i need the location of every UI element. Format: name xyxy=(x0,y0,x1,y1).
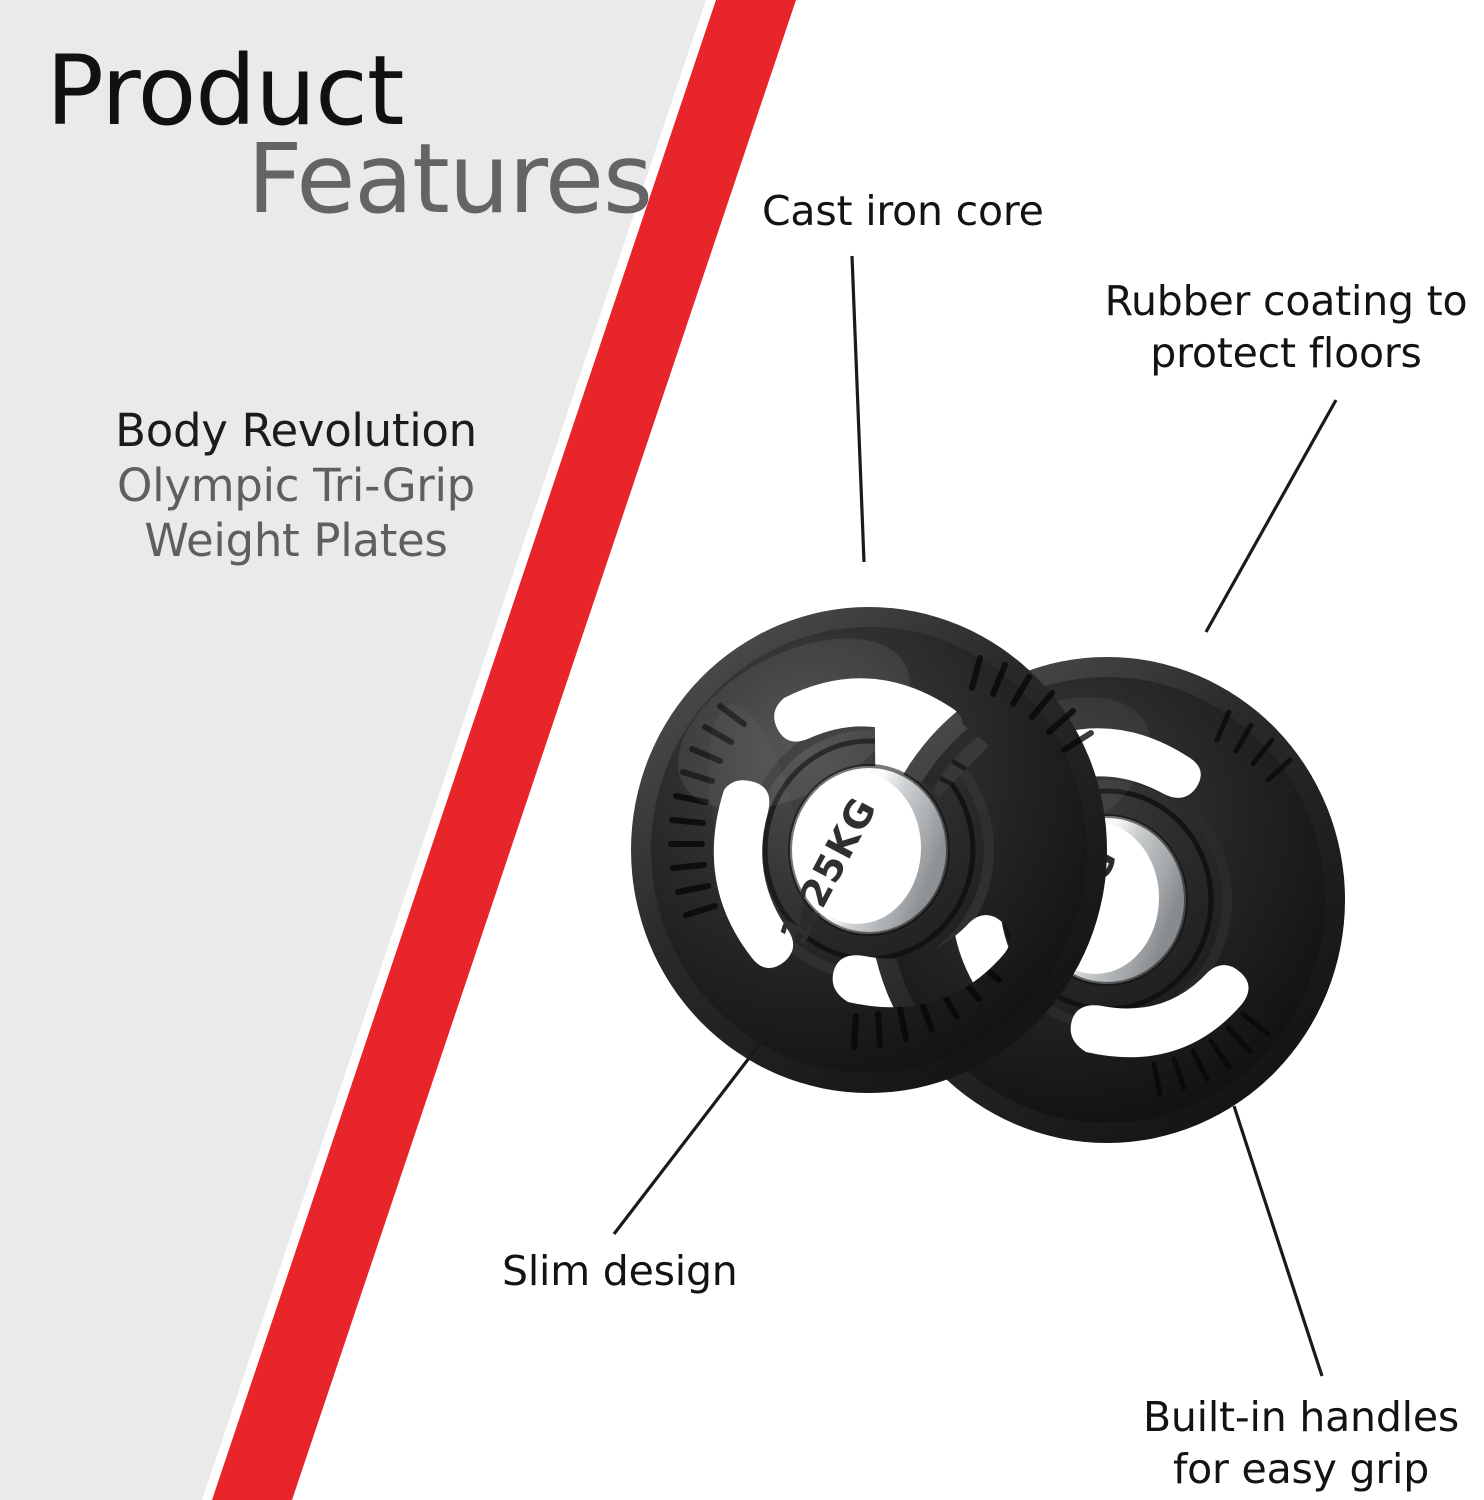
product-name-block: Body Revolution Olympic Tri-Grip Weight … xyxy=(40,404,552,569)
product-name-line-3: Weight Plates xyxy=(40,514,552,569)
product-brand: Body Revolution xyxy=(40,404,552,459)
weight-plate-front: 1.25KG xyxy=(631,603,1107,1093)
callout-label-cast-iron-core: Cast iron core xyxy=(762,186,1044,238)
page-title: Product Features xyxy=(46,44,666,226)
infographic-canvas: Product Features Body Revolution Olympic… xyxy=(0,0,1484,1500)
callout-label-rubber-coating: Rubber coating to protect floors xyxy=(1090,276,1482,379)
callout-label-slim-design: Slim design xyxy=(502,1246,738,1298)
product-name-line-2: Olympic Tri-Grip xyxy=(40,459,552,514)
weight-plates-image: 1.25KG xyxy=(588,528,1348,1148)
callout-label-built-in-handles: Built-in handles for easy grip xyxy=(1118,1392,1484,1495)
